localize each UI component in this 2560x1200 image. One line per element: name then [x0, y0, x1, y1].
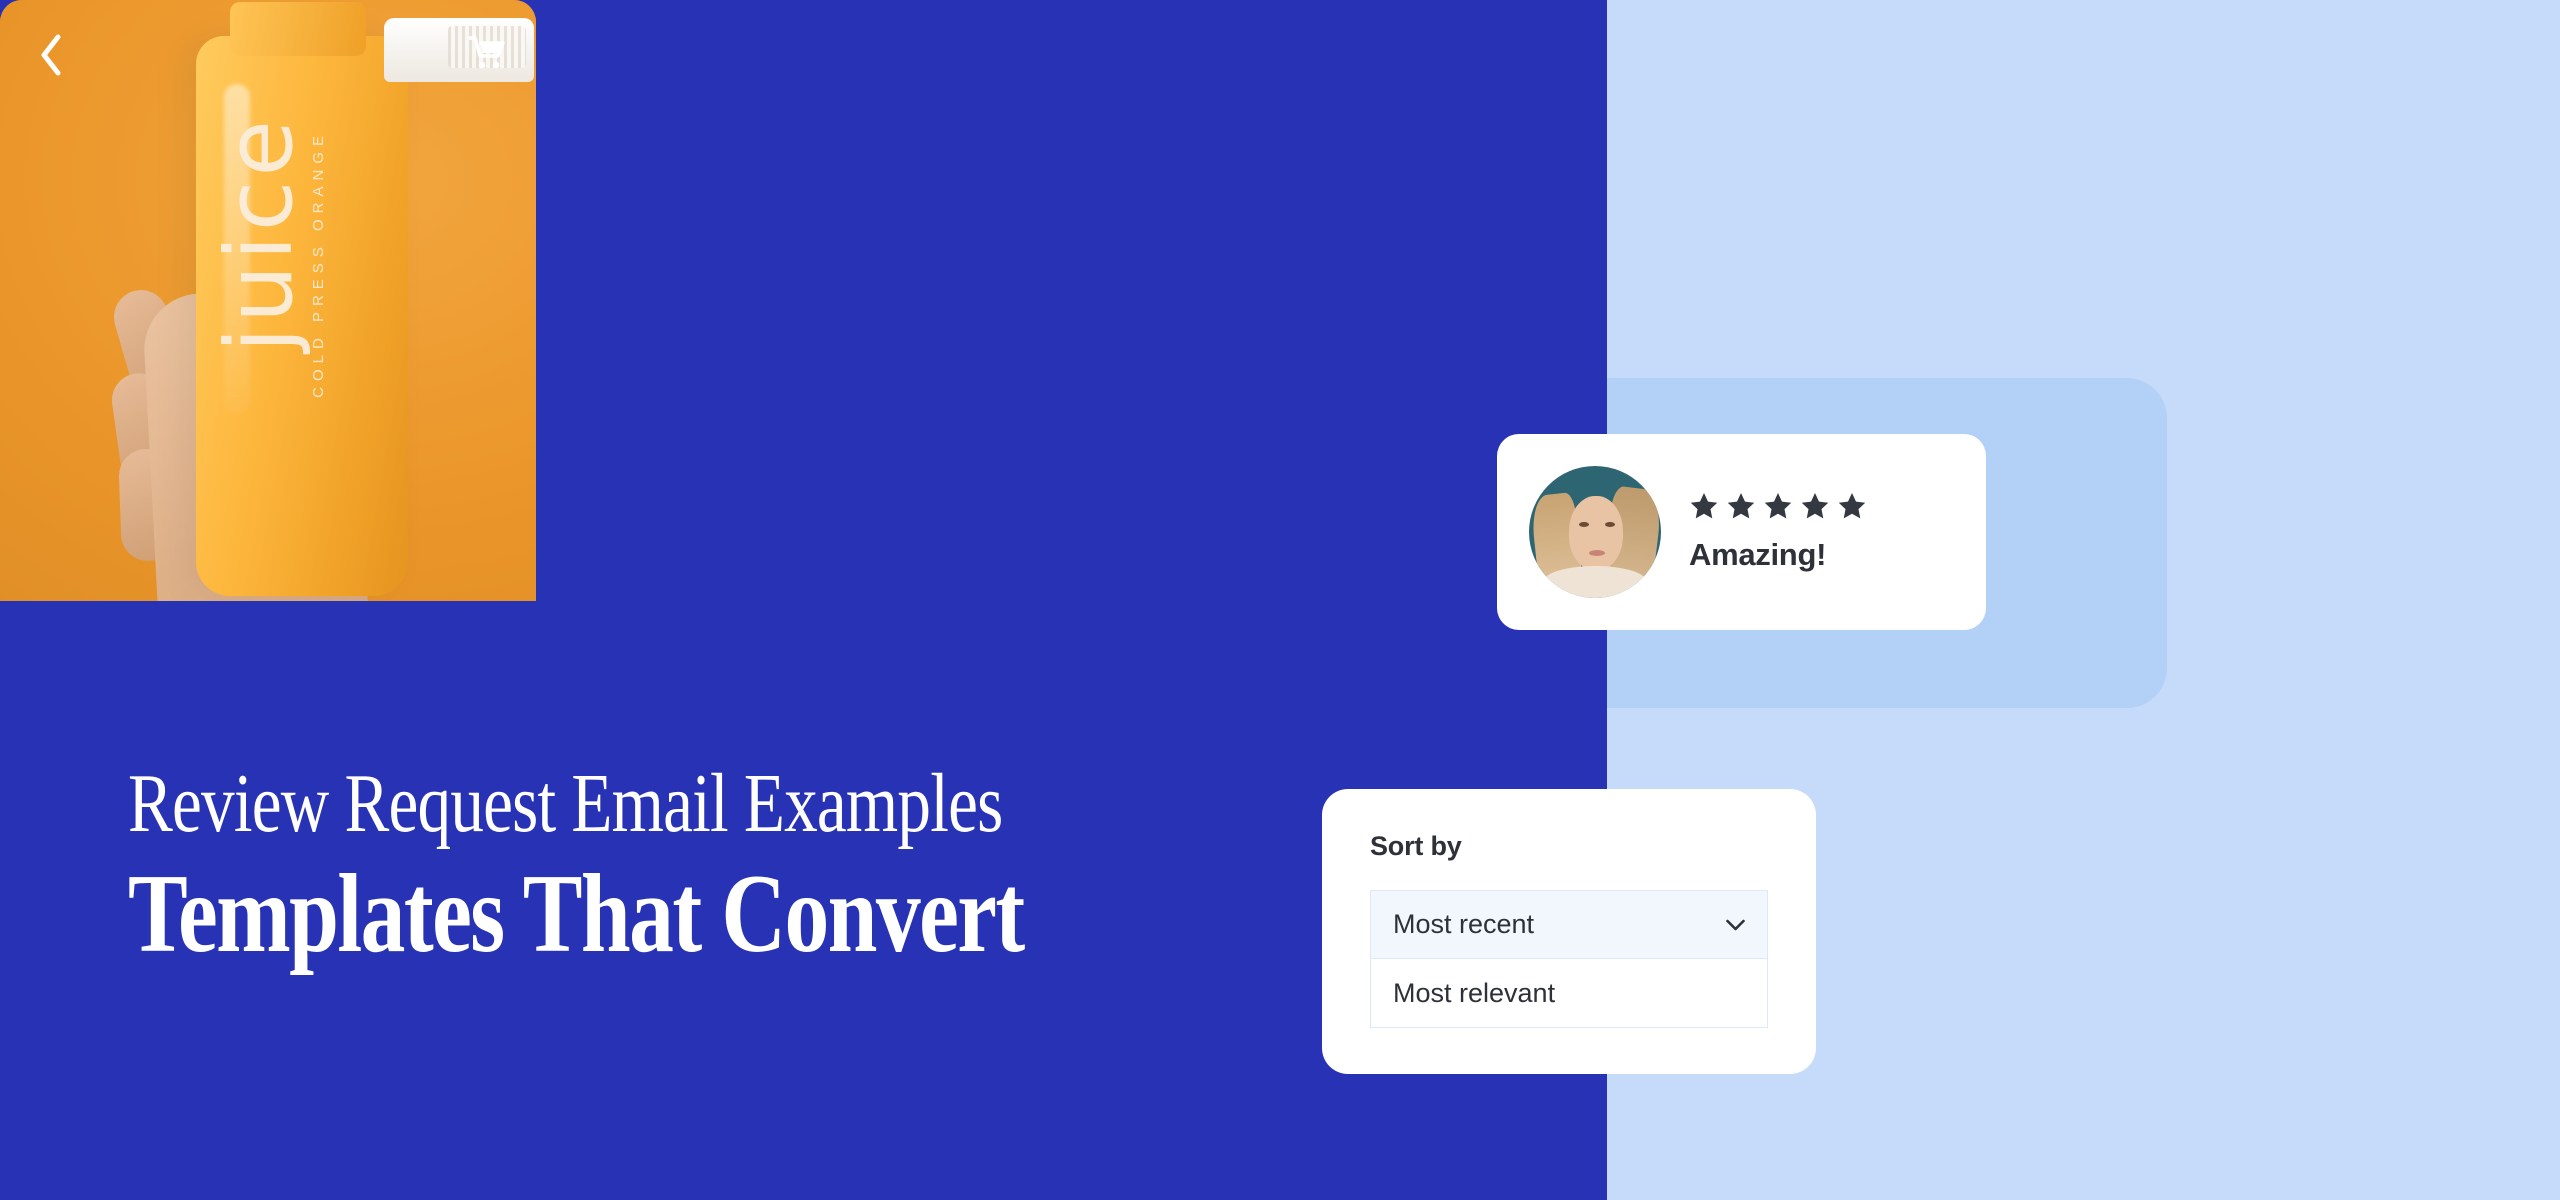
- headline-line-2: Templates That Convert: [128, 856, 1120, 974]
- review-text: Amazing!: [1689, 537, 1867, 573]
- avatar-face: [1569, 496, 1623, 570]
- sort-by-card: Sort by Most recent Most relevant: [1322, 789, 1816, 1074]
- bottle-label: juice COLD PRESS ORANGE: [212, 116, 332, 536]
- page-title: Review Request Email Examples Templates …: [128, 762, 1368, 974]
- shopping-cart-icon[interactable]: [460, 26, 514, 80]
- hero-banner: Review Request Email Examples Templates …: [0, 0, 2560, 1200]
- bottle-subtitle-text: COLD PRESS ORANGE: [310, 130, 327, 398]
- avatar-eye-left: [1579, 522, 1589, 527]
- avatar: [1529, 466, 1661, 598]
- sort-by-label: Sort by: [1370, 831, 1768, 862]
- star-icon: [1726, 491, 1756, 521]
- chevron-down-icon[interactable]: [1726, 919, 1745, 930]
- bottle-brand-text: juice: [218, 116, 303, 353]
- sort-select-value: Most recent: [1393, 909, 1534, 940]
- headline-line-1: Review Request Email Examples: [128, 762, 1120, 846]
- sort-option-most-relevant[interactable]: Most relevant: [1370, 959, 1768, 1028]
- star-icon: [1689, 491, 1719, 521]
- star-icon: [1763, 491, 1793, 521]
- avatar-lips: [1589, 550, 1605, 556]
- sort-select[interactable]: Most recent: [1370, 890, 1768, 959]
- review-card: Amazing!: [1497, 434, 1986, 630]
- review-star-rating: [1689, 491, 1867, 521]
- sort-option-label: Most relevant: [1393, 978, 1555, 1009]
- chevron-left-icon[interactable]: [24, 28, 78, 82]
- avatar-shoulder: [1543, 566, 1647, 598]
- bottle-neck: [230, 2, 366, 56]
- avatar-eye-right: [1605, 522, 1615, 527]
- product-image: juice COLD PRESS ORANGE: [0, 0, 536, 601]
- star-icon: [1837, 491, 1867, 521]
- juice-bottle: juice COLD PRESS ORANGE: [196, 36, 408, 596]
- star-icon: [1800, 491, 1830, 521]
